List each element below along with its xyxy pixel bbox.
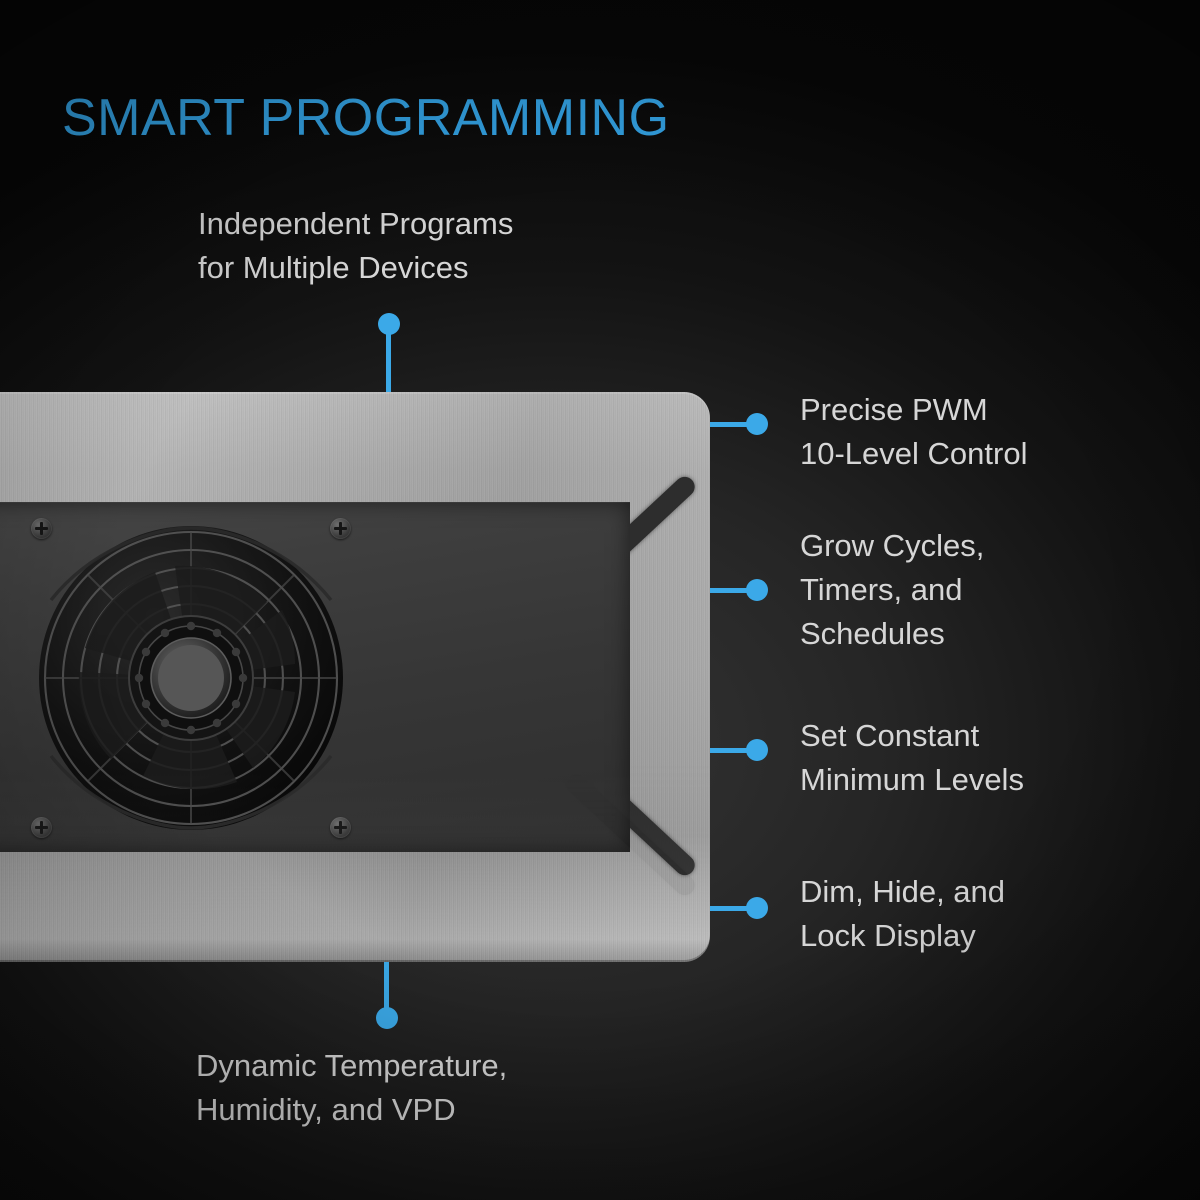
reflection-texture: [0, 742, 710, 962]
callout-precise-pwm: Precise PWM 10-Level Control: [800, 388, 1027, 476]
leader-dot-right-1: [746, 413, 768, 435]
screw-top-left: [31, 518, 52, 539]
callout-dynamic-temperature: Dynamic Temperature, Humidity, and VPD: [196, 1044, 507, 1132]
leader-dot-bottom: [376, 1007, 398, 1029]
callout-line: Timers, and: [800, 568, 984, 612]
callout-line: 10-Level Control: [800, 432, 1027, 476]
screw-top-right: [330, 518, 351, 539]
reflection-chamfer: [562, 770, 699, 899]
marketing-stage: SMART PROGRAMMING Independent Programs f…: [0, 0, 1200, 1200]
callout-line: Minimum Levels: [800, 758, 1024, 802]
callout-line: Grow Cycles,: [800, 524, 984, 568]
callout-line: Dim, Hide, and: [800, 870, 1005, 914]
callout-independent-programs: Independent Programs for Multiple Device…: [198, 202, 513, 290]
leader-dot-right-2: [746, 579, 768, 601]
page-title: SMART PROGRAMMING: [62, 88, 670, 148]
callout-minimum-levels: Set Constant Minimum Levels: [800, 714, 1024, 802]
callout-line: Independent Programs: [198, 202, 513, 246]
callout-dim-hide-lock: Dim, Hide, and Lock Display: [800, 870, 1005, 958]
product-reflection: [0, 742, 710, 962]
callout-line: Schedules: [800, 612, 984, 656]
callout-line: Humidity, and VPD: [196, 1088, 507, 1132]
leader-dot-right-4: [746, 897, 768, 919]
leader-dot-right-3: [746, 739, 768, 761]
callout-grow-cycles: Grow Cycles, Timers, and Schedules: [800, 524, 984, 656]
leader-dot-top: [378, 313, 400, 335]
callout-line: Dynamic Temperature,: [196, 1044, 507, 1088]
callout-line: Lock Display: [800, 914, 1005, 958]
callout-line: Precise PWM: [800, 388, 1027, 432]
callout-line: Set Constant: [800, 714, 1024, 758]
callout-line: for Multiple Devices: [198, 246, 513, 290]
